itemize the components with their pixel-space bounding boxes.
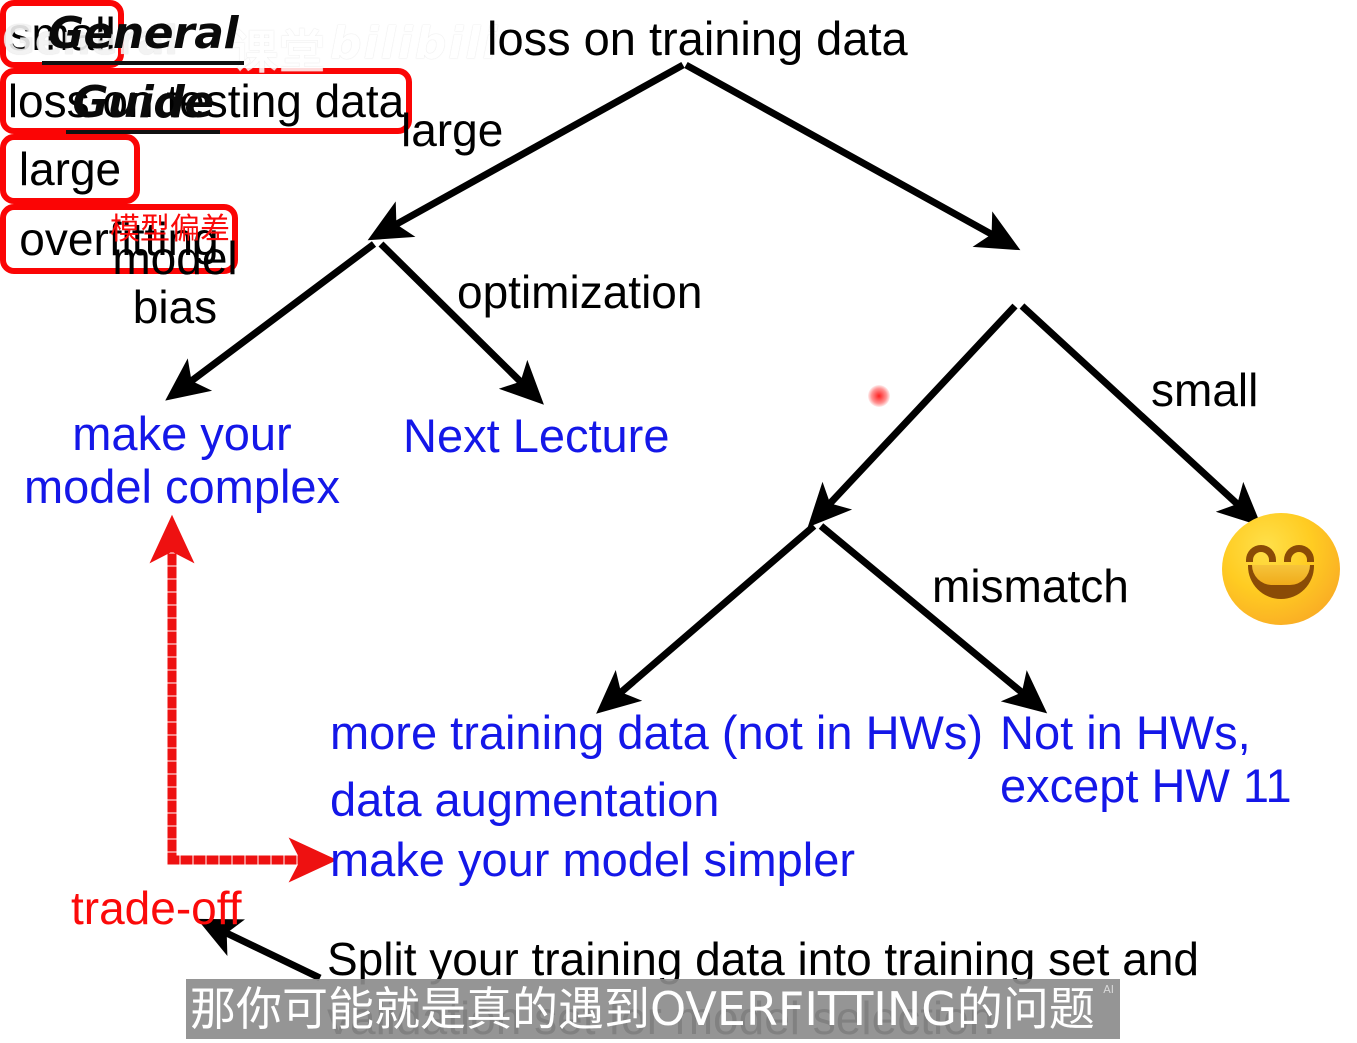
- node-make-model-complex-line2: model complex: [22, 461, 342, 514]
- slide-title: General Guide: [18, 8, 268, 134]
- node-next-lecture: Next Lecture: [403, 410, 669, 463]
- node-more-training-data: more training data (not in HWs) data aug…: [330, 707, 983, 826]
- spacer: [330, 760, 983, 774]
- edge-label-test-large-box: large: [0, 134, 140, 204]
- node-not-in-hws: Not in HWs, except HW 11: [1000, 707, 1292, 812]
- edge-label-train-large: large: [401, 106, 503, 155]
- node-make-model-simpler: make your model simpler: [330, 834, 855, 887]
- edge-label-test-small: small: [1151, 366, 1258, 415]
- node-make-model-complex: make your model complex: [22, 408, 342, 513]
- subtitle-overlay: 那你可能就是真的遇到OVERFITTING的问题 AI: [186, 979, 1120, 1039]
- edge-split-to-tradeoff: [216, 928, 320, 978]
- watermark-bilibili-logo: bilibili: [330, 18, 499, 69]
- node-trade-off: trade-off: [71, 884, 241, 933]
- node-model-bias: model bias model bias: [112, 234, 238, 332]
- cursor-highlight-dot: [868, 385, 890, 407]
- subtitle-text: 那你可能就是真的遇到OVERFITTING的问题: [186, 986, 1095, 1032]
- emoji-eye-left-icon: [1246, 545, 1276, 562]
- edge-label-mismatch: mismatch: [932, 562, 1129, 611]
- edge-large-to-more-data: [612, 526, 814, 700]
- edge-root-to-testing: [686, 65, 1002, 240]
- edge-large-to-not-in-hws: [821, 526, 1031, 700]
- emoji-eye-right-icon: [1284, 545, 1314, 562]
- node-more-training-data-line1: more training data (not in HWs): [330, 707, 983, 760]
- node-more-training-data-line2: data augmentation: [330, 774, 983, 827]
- node-not-in-hws-line2: except HW 11: [1000, 760, 1292, 813]
- node-model-bias-word1: model: [112, 234, 238, 283]
- title-line-guide: Guide: [66, 77, 219, 134]
- node-not-in-hws-line1: Not in HWs,: [1000, 707, 1292, 760]
- slide-canvas: General 课堂 bilibili General Guide loss o…: [0, 0, 1357, 1043]
- title-line-general: General: [42, 8, 244, 65]
- happy-face-emoji: [1222, 513, 1340, 625]
- node-model-bias-word2: bias: [112, 283, 238, 332]
- node-make-model-complex-line1: make your: [22, 408, 342, 461]
- edge-label-test-large: large: [19, 142, 121, 196]
- edge-label-optimization: optimization: [457, 268, 702, 317]
- ai-watermark: AI: [1103, 983, 1114, 996]
- edge-testing-to-large: [822, 306, 1015, 512]
- node-loss-on-training-data: loss on training data: [487, 14, 908, 64]
